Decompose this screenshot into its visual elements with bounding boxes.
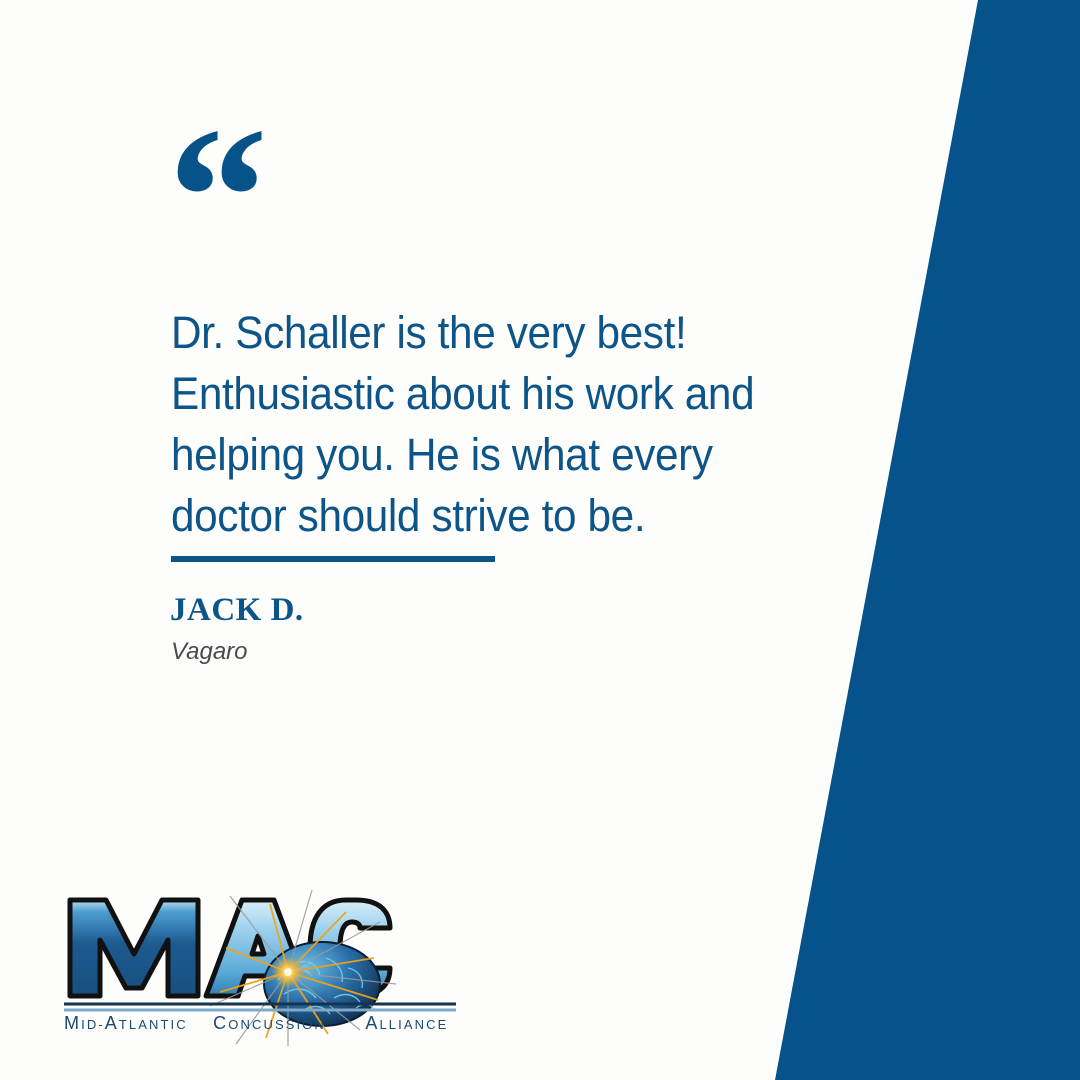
mac-logo: MID-ATLANTIC CONCUSSION ALLIANCE — [60, 888, 460, 1048]
quote-mark-icon: “ — [168, 98, 262, 298]
quote-line-2: Enthusiastic about his work and — [171, 363, 791, 424]
quote-line-4: doctor should strive to be. — [171, 485, 791, 546]
testimonial-graphic: “ Dr. Schaller is the very best! Enthusi… — [0, 0, 1080, 1080]
tagline-cap-a1: A — [105, 1013, 119, 1033]
tagline-word-alliance: ALLIANCE — [365, 1017, 448, 1032]
tagline-cap-c: C — [213, 1013, 228, 1033]
attribution-divider — [171, 556, 495, 562]
quote-line-1: Dr. Schaller is the very best! — [171, 302, 791, 363]
tagline-cap-m: M — [64, 1013, 81, 1033]
author-name: JACK D. — [170, 592, 304, 629]
quote-line-3: helping you. He is what every — [171, 424, 791, 485]
tagline-word-mid-atlantic: MID-ATLANTIC — [64, 1017, 188, 1032]
tagline-rest-tlantic: TLANTIC — [119, 1017, 188, 1032]
review-source: Vagaro — [171, 638, 248, 666]
tagline-word-concussion: CONCUSSION — [213, 1017, 326, 1032]
logo-letter-m — [70, 900, 198, 996]
tagline-rest-lliance: LLIANCE — [379, 1017, 448, 1032]
logo-tagline: MID-ATLANTIC CONCUSSION ALLIANCE — [64, 1013, 464, 1034]
tagline-rest-id: ID- — [81, 1017, 105, 1032]
tagline-cap-a2: A — [365, 1013, 379, 1033]
tagline-rest-oncussion: ONCUSSION — [228, 1017, 326, 1032]
quote-text: Dr. Schaller is the very best! Enthusias… — [171, 302, 831, 546]
